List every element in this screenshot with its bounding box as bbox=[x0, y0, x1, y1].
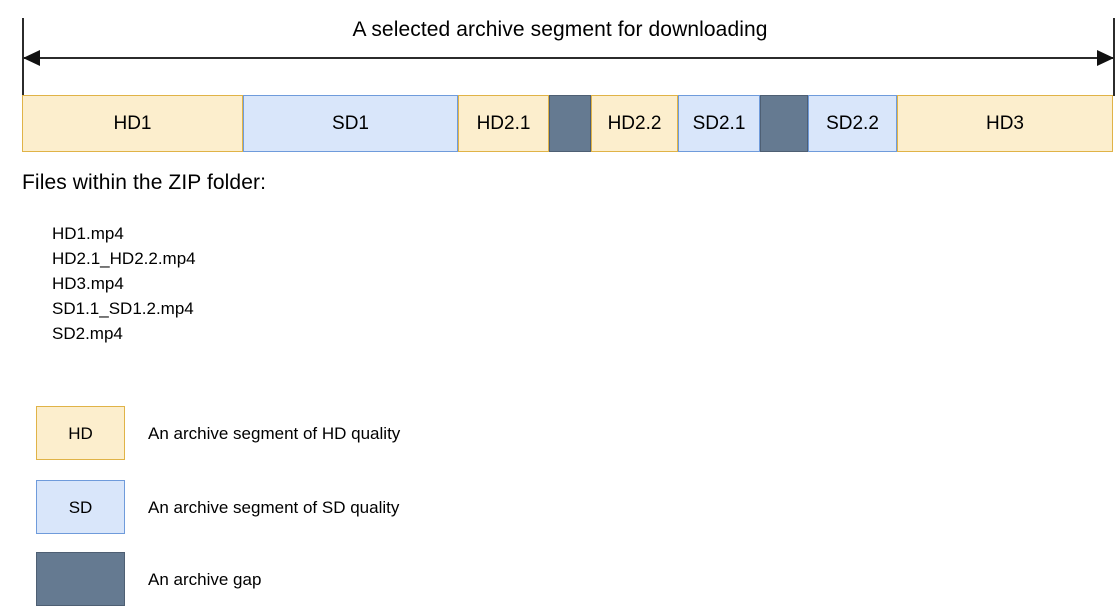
zip-file-list: HD1.mp4HD2.1_HD2.2.mp4HD3.mp4SD1.1_SD1.2… bbox=[52, 221, 592, 346]
legend-label-sd: An archive segment of SD quality bbox=[148, 480, 399, 534]
timeline-segment-label: SD1 bbox=[332, 114, 369, 133]
legend-label-gap: An archive gap bbox=[148, 552, 261, 606]
timeline-segment-hd3: HD3 bbox=[897, 95, 1113, 152]
timeline-segment-hd1: HD1 bbox=[22, 95, 243, 152]
arrow-left-icon bbox=[23, 50, 40, 66]
span-arrow-line bbox=[24, 57, 1113, 59]
zip-file-item: HD1.mp4 bbox=[52, 221, 592, 246]
zip-file-item: SD1.1_SD1.2.mp4 bbox=[52, 296, 592, 321]
timeline-segment-label: HD2.1 bbox=[477, 114, 531, 133]
timeline-segment-label: SD2.1 bbox=[693, 114, 746, 133]
legend-item-hd: HD An archive segment of HD quality bbox=[36, 406, 736, 461]
archive-timeline-bar: HD1SD1HD2.1HD2.2SD2.1SD2.2HD3 bbox=[22, 95, 1113, 152]
zip-file-item: HD2.1_HD2.2.mp4 bbox=[52, 246, 592, 271]
span-annotation: A selected archive segment for downloadi… bbox=[0, 0, 1120, 100]
zip-contents-section: Files within the ZIP folder: HD1.mp4HD2.… bbox=[22, 168, 622, 198]
timeline-segment-gap bbox=[549, 95, 591, 152]
legend-item-gap: An archive gap bbox=[36, 552, 736, 607]
legend-swatch-sd: SD bbox=[36, 480, 125, 534]
zip-file-item: HD3.mp4 bbox=[52, 271, 592, 296]
zip-heading: Files within the ZIP folder: bbox=[22, 168, 622, 198]
diagram-canvas: A selected archive segment for downloadi… bbox=[0, 0, 1120, 611]
timeline-segment-hd2-1: HD2.1 bbox=[458, 95, 549, 152]
timeline-segment-sd2-1: SD2.1 bbox=[678, 95, 760, 152]
timeline-segment-label: SD2.2 bbox=[826, 114, 879, 133]
timeline-segment-hd2-2: HD2.2 bbox=[591, 95, 678, 152]
timeline-segment-sd2-2: SD2.2 bbox=[808, 95, 897, 152]
timeline-segment-gap bbox=[760, 95, 808, 152]
timeline-segment-label: HD2.2 bbox=[608, 114, 662, 133]
legend-label-hd: An archive segment of HD quality bbox=[148, 406, 400, 460]
legend-swatch-gap bbox=[36, 552, 125, 606]
timeline-segment-label: HD1 bbox=[113, 114, 151, 133]
timeline-segment-sd1: SD1 bbox=[243, 95, 458, 152]
zip-file-item: SD2.mp4 bbox=[52, 321, 592, 346]
legend-item-sd: SD An archive segment of SD quality bbox=[36, 480, 736, 535]
timeline-segment-label: HD3 bbox=[986, 114, 1024, 133]
legend-swatch-hd: HD bbox=[36, 406, 125, 460]
arrow-right-icon bbox=[1097, 50, 1114, 66]
span-title: A selected archive segment for downloadi… bbox=[0, 17, 1120, 43]
